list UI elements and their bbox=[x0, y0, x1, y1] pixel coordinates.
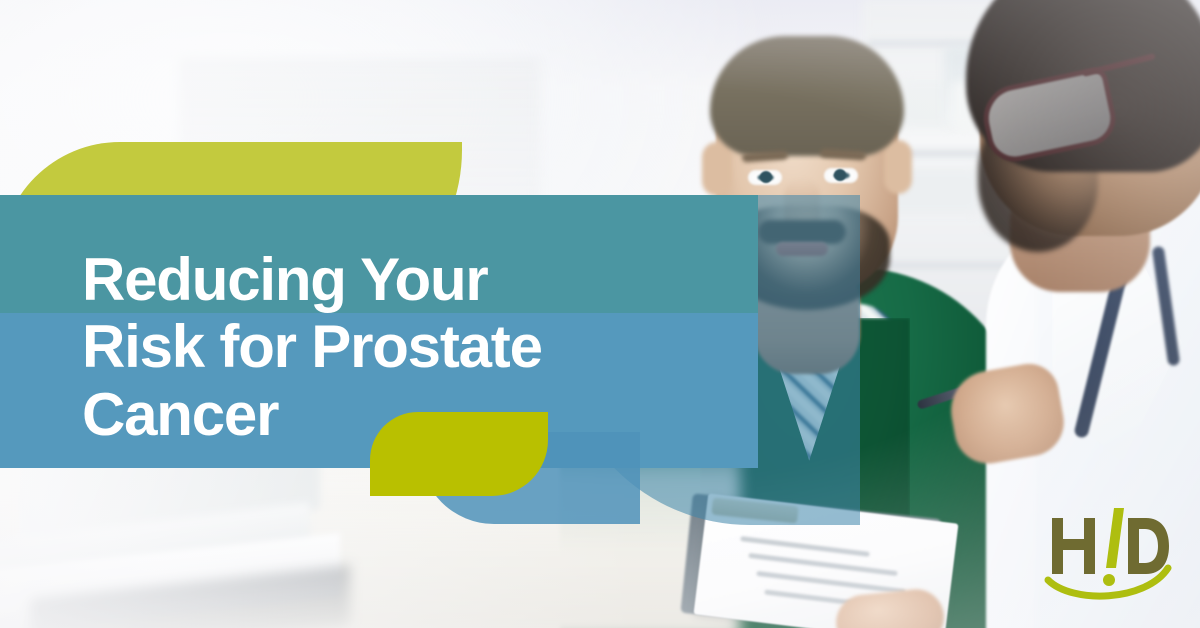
article-banner: Reducing Your Risk for Prostate Cancer bbox=[0, 0, 1200, 628]
logo-letter-h bbox=[1052, 518, 1095, 574]
patient-pupil-left bbox=[760, 171, 772, 183]
patient-ear-right bbox=[884, 140, 912, 194]
headline-line-1: Reducing Your bbox=[82, 246, 742, 313]
headline-line-3: Cancer bbox=[82, 381, 742, 448]
patient-pupil-right bbox=[834, 169, 846, 181]
hd-logo[interactable] bbox=[1042, 506, 1174, 610]
headline-line-2: Risk for Prostate bbox=[82, 313, 742, 380]
patient-ear-left bbox=[702, 142, 732, 196]
logo-letter-d bbox=[1128, 518, 1169, 574]
patient-hair bbox=[710, 36, 904, 156]
logo-exclamation-accent bbox=[1103, 508, 1124, 586]
page-title: Reducing Your Risk for Prostate Cancer bbox=[82, 246, 742, 448]
